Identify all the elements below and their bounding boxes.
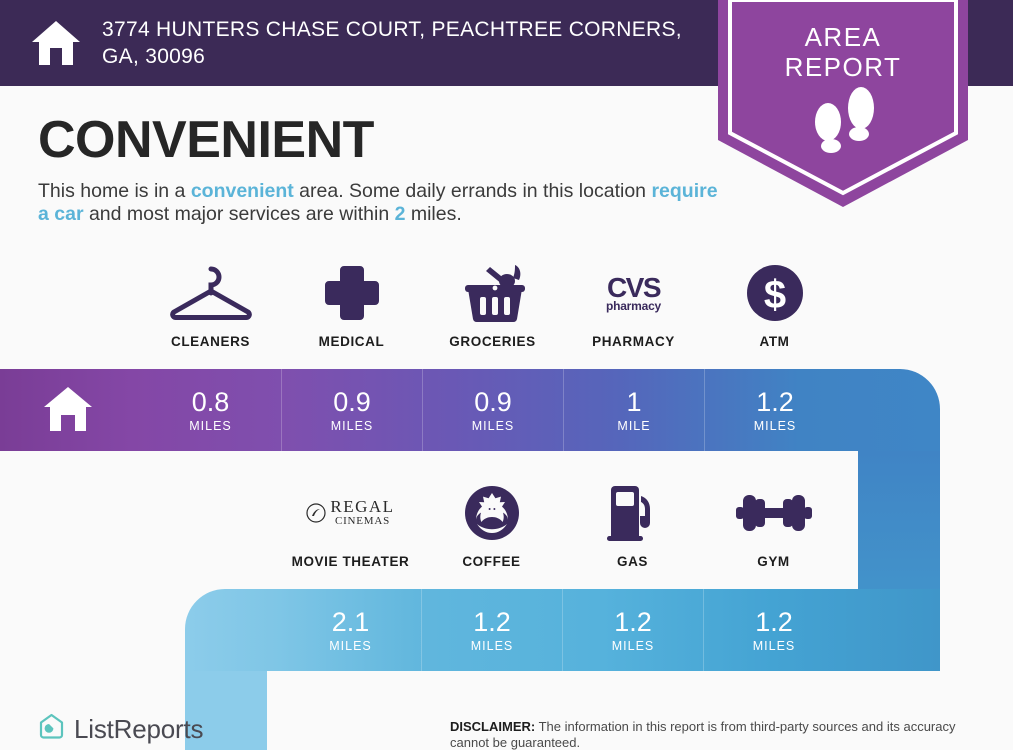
distance-unit: MILE [617,419,650,433]
listreports-brand: ListReports [38,713,203,745]
distance-value: 1.2 [614,608,652,636]
amenity-atm: $ ATM [704,262,845,349]
regal-logo-top: REGAL [330,498,394,516]
cvs-logo-sub: pharmacy [606,300,661,312]
amenity-medical: MEDICAL [281,262,422,349]
amenity-label: GYM [757,554,790,569]
distance-row-2: 2.1 MILES 1.2 MILES 1.2 MILES 1.2 MILES [280,589,844,671]
home-icon [30,17,82,69]
amenity-label: PHARMACY [592,334,675,349]
distance-cell-cleaners: 0.8 MILES [140,369,281,451]
regal-logo-bottom: CINEMAS [330,516,394,528]
disclaimer: DISCLAIMER: The information in this repo… [450,719,995,750]
amenity-label: MOVIE THEATER [292,554,410,569]
disclaimer-label: DISCLAIMER: [450,719,535,734]
amenity-icon-row-1: CLEANERS MEDICAL [140,262,868,349]
amenity-groceries: GROCERIES [422,262,563,349]
summary-text: This home is in a convenient area. Some … [38,180,718,226]
amenity-label: MEDICAL [319,334,385,349]
property-address: 3774 HUNTERS CHASE COURT, PEACHTREE CORN… [102,16,722,70]
starbucks-logo [463,482,521,544]
distance-unit: MILES [472,419,515,433]
distance-cell-pharmacy: 1 MILE [563,369,704,451]
distance-cell-gas: 1.2 MILES [562,589,703,671]
distance-cell-coffee: 1.2 MILES [421,589,562,671]
distance-unit: MILES [329,639,372,653]
amenity-label: ATM [759,334,789,349]
amenity-label: CLEANERS [171,334,250,349]
amenity-icon-row-2: REGAL CINEMAS MOVIE THEATER [280,482,868,569]
distance-unit: MILES [754,419,797,433]
distance-value: 1.2 [755,608,793,636]
distance-row-1: 0.8 MILES 0.9 MILES 0.9 MILES 1 MILE 1.2… [140,369,845,451]
area-report-badge: AREA REPORT [718,0,968,207]
brand-name: ListReports [74,714,203,745]
amenity-label: GROCERIES [449,334,535,349]
amenity-coffee: COFFEE [421,482,562,569]
distance-cell-gym: 1.2 MILES [703,589,844,671]
atm-dollar-icon: $ [746,262,804,324]
distance-value: 0.9 [333,388,371,416]
summary-part-2: area. Some daily errands in this locatio… [294,180,652,202]
dumbbell-icon [736,482,812,544]
amenity-label: GAS [617,554,648,569]
distance-unit: MILES [612,639,655,653]
distance-value: 1.2 [473,608,511,636]
svg-text:$: $ [763,273,785,317]
summary-part-4: miles. [405,203,461,225]
distance-cell-movie-theater: 2.1 MILES [280,589,421,671]
amenity-movie-theater: REGAL CINEMAS MOVIE THEATER [280,482,421,569]
summary-highlight-miles: 2 [395,203,406,225]
summary-highlight-convenient: convenient [191,180,294,202]
cvs-pharmacy-logo: CVS pharmacy [606,262,661,324]
distance-cell-medical: 0.9 MILES [281,369,422,451]
distance-unit: MILES [471,639,514,653]
distance-value: 1.2 [756,388,794,416]
amenity-pharmacy: CVS pharmacy PHARMACY [563,262,704,349]
distance-unit: MILES [331,419,374,433]
gas-pump-icon [605,482,661,544]
amenity-cleaners: CLEANERS [140,262,281,349]
summary-part-1: This home is in a [38,180,191,202]
cvs-logo-main: CVS [606,274,661,302]
page-title: CONVENIENT [38,110,374,170]
amenity-gas: GAS [562,482,703,569]
area-report-page: 3774 HUNTERS CHASE COURT, PEACHTREE CORN… [0,0,1013,750]
regal-cinemas-logo: REGAL CINEMAS [306,482,394,544]
distance-cell-atm: 1.2 MILES [704,369,845,451]
grocery-basket-icon [460,262,526,324]
summary-part-3: and most major services are within [84,203,395,225]
distance-value: 0.9 [474,388,512,416]
distance-cell-groceries: 0.9 MILES [422,369,563,451]
listreports-house-icon [38,713,65,745]
medical-cross-icon [323,262,381,324]
amenity-label: COFFEE [462,554,520,569]
distance-value: 1 [626,388,641,416]
ribbon-home-icon [42,385,94,440]
distance-unit: MILES [753,639,796,653]
amenity-gym: GYM [703,482,844,569]
distance-value: 0.8 [192,388,230,416]
distance-unit: MILES [189,419,232,433]
hanger-icon [168,262,254,324]
distance-value: 2.1 [332,608,370,636]
